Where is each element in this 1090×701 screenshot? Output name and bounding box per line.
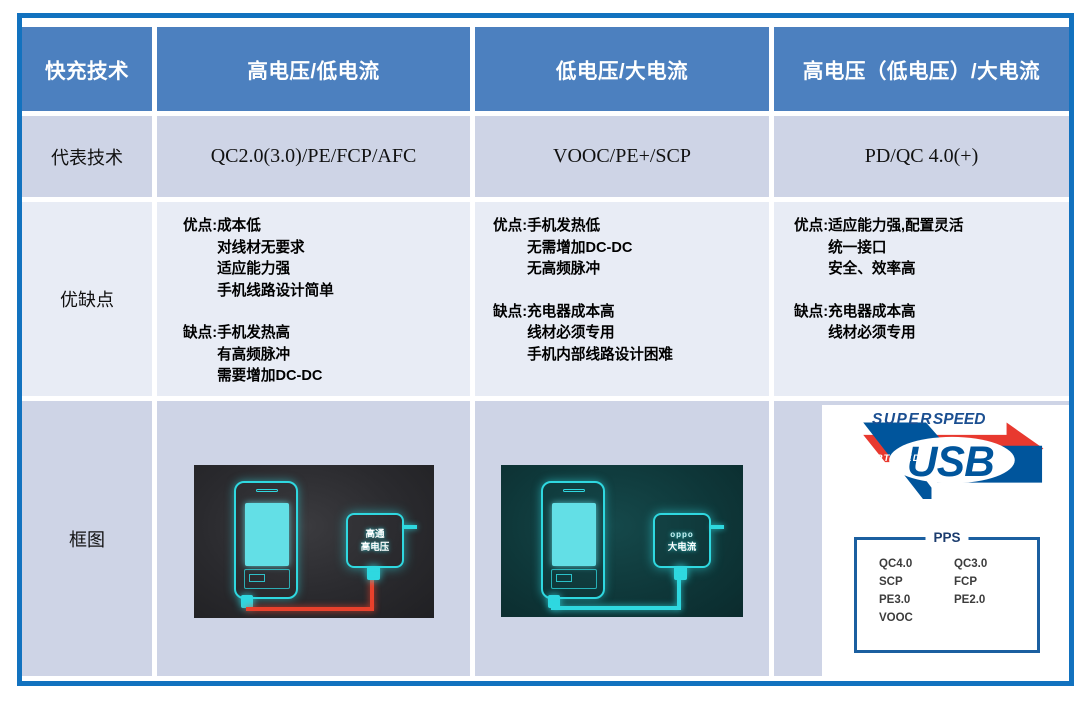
charger-brick: 高通 高电压 (346, 513, 404, 568)
superspeed-usb-logo: USB SUPERSPEED CERTIFIED (844, 413, 1049, 499)
phone-internal-circuit (244, 569, 290, 589)
phone-speaker-icon (256, 489, 278, 492)
phone-screen (552, 503, 596, 566)
pps-title: PPS (925, 530, 968, 545)
row-label-text: 代表技术 (51, 144, 123, 170)
cons-item: 充电器成本高 (828, 302, 1069, 324)
charger-plug-icon (674, 566, 687, 580)
cons-label: 缺点: (183, 323, 217, 345)
header-cell-technology: 快充技术 (22, 27, 152, 111)
pros-item: 手机线路设计简单 (217, 281, 470, 303)
row-label-representative-tech: 代表技术 (22, 116, 152, 197)
pros-label: 优点: (493, 216, 527, 238)
pps-item: VOOC (879, 612, 954, 624)
charger-plug-icon (367, 566, 380, 580)
header-label-col2: 低电压/大电流 (556, 54, 688, 84)
pros-item: 无需增加DC-DC (527, 238, 769, 260)
header-cell-low-voltage-high-current: 低电压/大电流 (475, 27, 769, 111)
diagram-low-voltage-high-current: oppo 大电流 (501, 465, 743, 617)
header-label-technology: 快充技术 (45, 54, 129, 84)
cons-item: 手机发热高 (217, 323, 470, 345)
header-cell-mixed-voltage-high-current: 高电压（低电压）/大电流 (774, 27, 1069, 111)
cell-pros-cons-col3: 优点: 适应能力强,配置灵活 统一接口 安全、效率高 缺点: 充电器成本高 线材… (774, 202, 1069, 396)
row-label-text: 优缺点 (60, 286, 114, 312)
phone-screen (245, 503, 289, 566)
pros-item: 适应能力强 (217, 259, 470, 281)
pros-item: 适应能力强,配置灵活 (828, 216, 1069, 238)
pros-label: 优点: (794, 216, 828, 238)
pros-item: 成本低 (217, 216, 470, 238)
cell-diagram-col3: USB SUPERSPEED CERTIFIED PPS QC4.0 QC3.0… (774, 401, 1069, 676)
cons-item: 充电器成本高 (527, 302, 769, 324)
cons-item: 手机内部线路设计困难 (527, 345, 769, 367)
header-cell-high-voltage-low-current: 高电压/低电流 (157, 27, 470, 111)
charging-cable-vertical (370, 578, 374, 609)
cons-item: 需要增加DC-DC (217, 366, 470, 388)
pps-item: PE3.0 (879, 594, 954, 606)
superspeed-super-text: SUPER (872, 411, 933, 428)
cell-pros-cons-col1: 优点: 成本低 对线材无要求 适应能力强 手机线路设计简单 缺点: 手机发热高 … (157, 202, 470, 396)
pros-item: 对线材无要求 (217, 238, 470, 260)
charger-brand-label: 高通 (365, 528, 384, 541)
pros-label: 优点: (183, 216, 217, 238)
cell-pros-cons-col2: 优点: 手机发热低 无需增加DC-DC 无高频脉冲 缺点: 充电器成本高 线材必… (475, 202, 769, 396)
pros-item: 安全、效率高 (828, 259, 1069, 281)
row-label-pros-cons: 优缺点 (22, 202, 152, 396)
phone-illustration (541, 481, 605, 599)
cons-group-col1: 缺点: 手机发热高 有高频脉冲 需要增加DC-DC (183, 323, 470, 388)
pps-item: QC4.0 (879, 558, 954, 570)
charging-cable-horizontal (246, 607, 374, 611)
pps-protocol-grid: QC4.0 QC3.0 SCP FCP PE3.0 PE2.0 VOOC (879, 558, 1029, 624)
charger-prong-icon (711, 525, 724, 529)
phone-internal-circuit (551, 569, 597, 589)
spacer (794, 281, 1069, 302)
pros-item: 手机发热低 (527, 216, 769, 238)
cell-diagram-col1: 高通 高电压 (157, 401, 470, 676)
rep-tech-value-col2: VOOC/PE+/SCP (553, 145, 691, 168)
row-label-text: 框图 (69, 526, 105, 552)
pps-spec-box: PPS QC4.0 QC3.0 SCP FCP PE3.0 PE2.0 VOOC (854, 537, 1040, 653)
charger-brand-label: oppo (670, 528, 694, 541)
phone-speaker-icon (563, 489, 585, 492)
cons-group-col3: 缺点: 充电器成本高 线材必须专用 (794, 302, 1069, 345)
cell-representative-tech-col1: QC2.0(3.0)/PE/FCP/AFC (157, 116, 470, 197)
pps-item: QC3.0 (954, 558, 1029, 570)
pros-group-col2: 优点: 手机发热低 无需增加DC-DC 无高频脉冲 (493, 216, 769, 281)
rep-tech-value-col3: PD/QC 4.0(+) (865, 145, 979, 168)
pros-item: 无高频脉冲 (527, 259, 769, 281)
cons-group-col2: 缺点: 充电器成本高 线材必须专用 手机内部线路设计困难 (493, 302, 769, 367)
charger-mode-label: 高电压 (361, 541, 390, 554)
pps-item-empty (954, 612, 1029, 624)
pps-item: PE2.0 (954, 594, 1029, 606)
certified-text: CERTIFIED (860, 453, 921, 464)
fast-charging-comparison-table: 快充技术 高电压/低电流 低电压/大电流 高电压（低电压）/大电流 代表技术 Q… (22, 27, 1069, 676)
spacer (183, 302, 470, 323)
usb-certification-panel: USB SUPERSPEED CERTIFIED PPS QC4.0 QC3.0… (822, 405, 1069, 676)
cons-item: 有高频脉冲 (217, 345, 470, 367)
cell-representative-tech-col3: PD/QC 4.0(+) (774, 116, 1069, 197)
rep-tech-value-col1: QC2.0(3.0)/PE/FCP/AFC (211, 145, 417, 168)
cell-diagram-col2: oppo 大电流 (475, 401, 769, 676)
charger-mode-label: 大电流 (668, 541, 697, 554)
pros-item: 统一接口 (828, 238, 1069, 260)
pps-item: FCP (954, 576, 1029, 588)
superspeed-speed-text: SPEED (933, 411, 986, 428)
phone-illustration (234, 481, 298, 599)
table-header-row: 快充技术 高电压/低电流 低电压/大电流 高电压（低电压）/大电流 (22, 27, 1069, 111)
diagram-high-voltage-low-current: 高通 高电压 (194, 465, 434, 618)
charger-brick: oppo 大电流 (653, 513, 711, 568)
charging-cable-vertical (677, 578, 681, 608)
pros-group-col1: 优点: 成本低 对线材无要求 适应能力强 手机线路设计简单 (183, 216, 470, 302)
pros-group-col3: 优点: 适应能力强,配置灵活 统一接口 安全、效率高 (794, 216, 1069, 281)
cell-representative-tech-col2: VOOC/PE+/SCP (475, 116, 769, 197)
charging-cable-horizontal (551, 606, 681, 610)
pps-item: SCP (879, 576, 954, 588)
header-label-col1: 高电压/低电流 (247, 54, 379, 84)
cons-item: 线材必须专用 (527, 323, 769, 345)
row-label-diagram: 框图 (22, 401, 152, 676)
cons-label: 缺点: (794, 302, 828, 324)
table-row-representative-tech: 代表技术 QC2.0(3.0)/PE/FCP/AFC VOOC/PE+/SCP … (22, 116, 1069, 197)
header-label-col3: 高电压（低电压）/大电流 (803, 54, 1040, 84)
charger-prong-icon (404, 525, 417, 529)
cons-label: 缺点: (493, 302, 527, 324)
spacer (493, 281, 769, 302)
cons-item: 线材必须专用 (828, 323, 1069, 345)
table-row-diagrams: 框图 高通 高电压 (22, 401, 1069, 676)
table-row-pros-cons: 优缺点 优点: 成本低 对线材无要求 适应能力强 手机线路设计简单 缺点: (22, 202, 1069, 396)
